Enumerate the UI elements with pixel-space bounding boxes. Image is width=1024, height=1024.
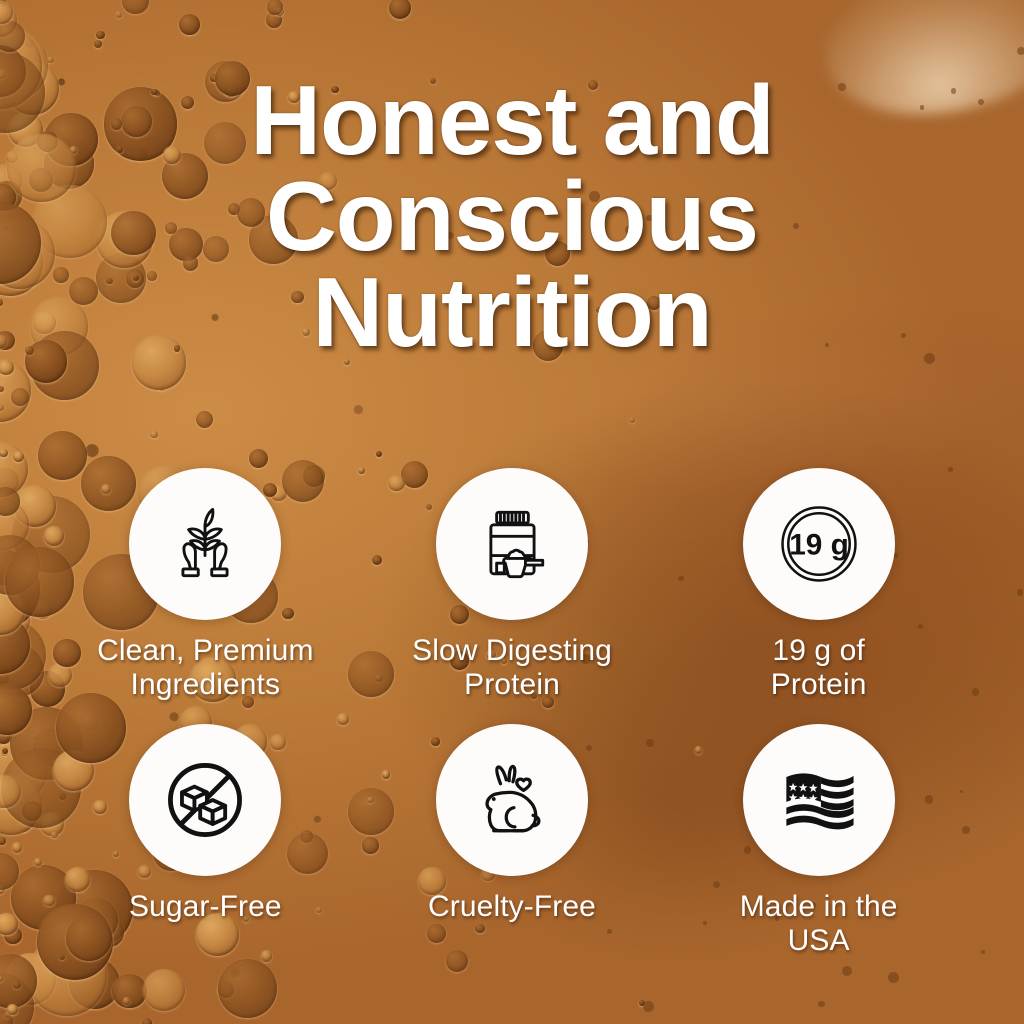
feature-badge-grid: Clean, Premium Ingredients Slow Digestin… <box>0 468 1024 958</box>
badge-caption: Slow Digesting Protein <box>412 634 612 702</box>
hands-holding-plant-icon <box>157 496 253 592</box>
headline-line-3: Nutrition <box>40 264 984 360</box>
page-title: Honest and Conscious Nutrition <box>0 72 1024 360</box>
feature-badge-clean-ingredients: Clean, Premium Ingredients <box>52 468 359 702</box>
badge-caption: Clean, Premium Ingredients <box>97 634 313 702</box>
protein-grams-value: 19 g <box>789 529 849 562</box>
protein-tub-scoop-icon <box>464 496 560 592</box>
badge-caption: Cruelty-Free <box>428 890 596 924</box>
badge-caption: 19 g of Protein <box>771 634 867 702</box>
headline-line-1: Honest and <box>40 72 984 168</box>
protein-grams-ring-icon: 19 g <box>771 496 867 592</box>
badge-caption: Sugar-Free <box>129 890 282 924</box>
no-sugar-cubes-icon <box>157 752 253 848</box>
feature-badge-made-in-usa: Made in the USA <box>665 724 972 958</box>
feature-badge-sugar-free: Sugar-Free <box>52 724 359 958</box>
feature-badge-cruelty-free: Cruelty-Free <box>359 724 666 958</box>
badge-circle <box>436 724 588 876</box>
usa-flag-icon <box>771 752 867 848</box>
badge-caption: Made in the USA <box>740 890 898 958</box>
badge-circle <box>129 468 281 620</box>
badge-circle: 19 g <box>743 468 895 620</box>
product-feature-banner: Honest and Conscious Nutrition <box>0 0 1024 1024</box>
badge-circle <box>436 468 588 620</box>
headline-line-2: Conscious <box>40 168 984 264</box>
feature-badge-protein-grams: 19 g 19 g of Protein <box>665 468 972 702</box>
badge-circle <box>129 724 281 876</box>
badge-circle <box>743 724 895 876</box>
rabbit-heart-icon <box>464 752 560 848</box>
feature-badge-slow-digesting-protein: Slow Digesting Protein <box>359 468 666 702</box>
